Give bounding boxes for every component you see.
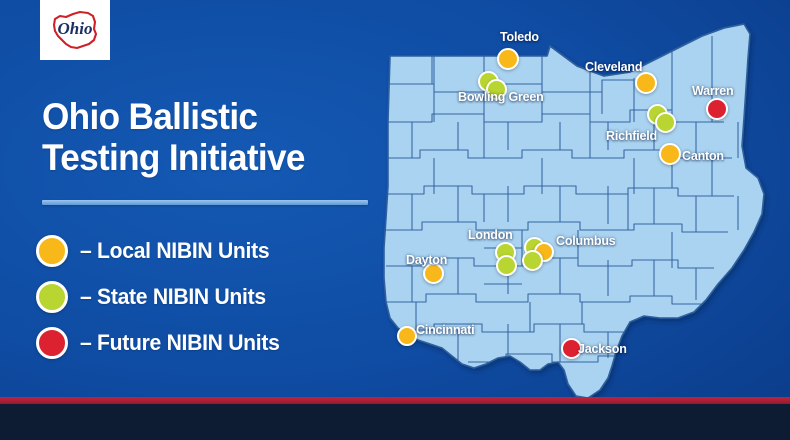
legend-state-swatch xyxy=(36,281,68,313)
city-label-bowling-green: Bowling Green xyxy=(458,90,544,104)
ohio-outline-icon: Ohio xyxy=(47,7,103,53)
red-accent-stripe xyxy=(0,397,790,404)
ohio-wordmark: Ohio xyxy=(58,19,93,38)
legend-local-swatch xyxy=(36,235,68,267)
ohio-map: ToledoBowling GreenClevelandWarrenRichfi… xyxy=(372,18,790,404)
legend-future: – Future NIBIN Units xyxy=(36,320,288,366)
map-marker-canton-local[interactable] xyxy=(659,143,681,165)
map-marker-warren-future[interactable] xyxy=(706,98,728,120)
city-label-london: London xyxy=(468,228,513,242)
city-label-columbus: Columbus xyxy=(556,234,616,248)
city-label-cincinnati: Cincinnati xyxy=(416,323,474,337)
legend-state-label: – State NIBIN Units xyxy=(80,284,266,310)
city-label-dayton: Dayton xyxy=(406,253,447,267)
legend-future-swatch xyxy=(36,327,68,359)
legend-local: – Local NIBIN Units xyxy=(36,228,288,274)
city-label-toledo: Toledo xyxy=(500,30,539,44)
map-marker-richfield-state[interactable] xyxy=(655,112,676,133)
city-label-richfield: Richfield xyxy=(606,129,657,143)
map-marker-cincinnati-local[interactable] xyxy=(397,326,417,346)
legend: – Local NIBIN Units– State NIBIN Units– … xyxy=(36,228,288,366)
legend-local-label: – Local NIBIN Units xyxy=(80,238,269,264)
map-marker-columbus-state[interactable] xyxy=(522,250,543,271)
city-label-cleveland: Cleveland xyxy=(585,60,642,74)
title-line-2: Testing Initiative xyxy=(42,137,384,178)
city-label-canton: Canton xyxy=(682,149,724,163)
map-marker-cleveland-local[interactable] xyxy=(635,72,657,94)
map-marker-toledo-local[interactable] xyxy=(497,48,519,70)
title-line-1: Ohio Ballistic xyxy=(42,96,384,137)
title-divider xyxy=(42,200,368,205)
page-title: Ohio Ballistic Testing Initiative xyxy=(42,96,384,179)
legend-state: – State NIBIN Units xyxy=(36,274,288,320)
poster-canvas: ToledoBowling GreenClevelandWarrenRichfi… xyxy=(0,0,790,440)
footer-bar xyxy=(0,404,790,440)
city-label-jackson: Jackson xyxy=(578,342,627,356)
ohio-state-logo[interactable]: Ohio xyxy=(40,0,110,60)
map-marker-london-state[interactable] xyxy=(496,255,517,276)
legend-future-label: – Future NIBIN Units xyxy=(80,330,280,356)
city-label-warren: Warren xyxy=(692,84,733,98)
